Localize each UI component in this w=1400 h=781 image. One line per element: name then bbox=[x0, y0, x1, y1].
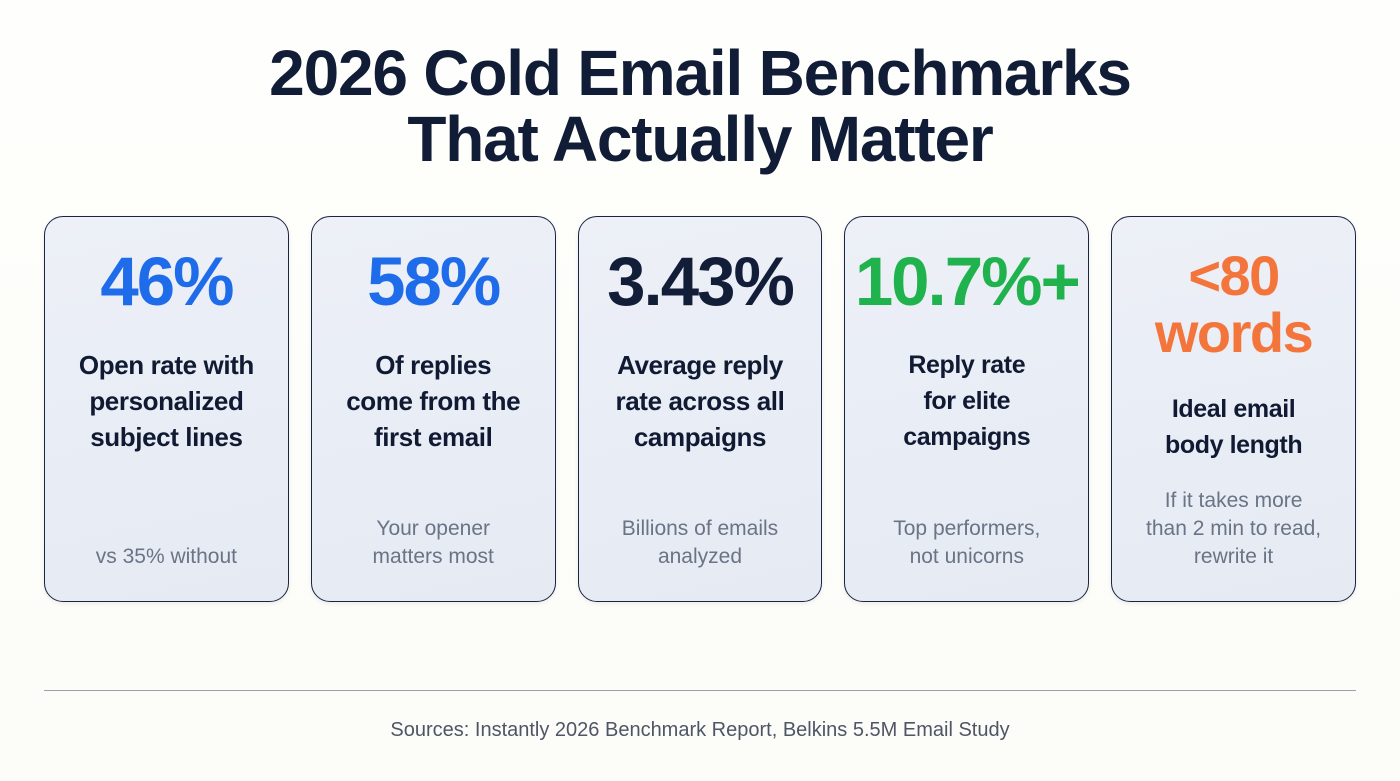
stat-value: 3.43% bbox=[607, 247, 793, 317]
stat-label-line-2: body length bbox=[1165, 427, 1302, 463]
stat-label-line-1: Ideal email bbox=[1165, 391, 1302, 427]
stat-note-line-1: vs 35% without bbox=[96, 543, 237, 571]
stat-cards-row: 46% Open rate with personalized subject … bbox=[0, 216, 1400, 602]
stat-label: Average reply rate across all campaigns bbox=[616, 347, 785, 455]
stat-note-line-2: analyzed bbox=[622, 543, 778, 571]
stat-label-line-1: Reply rate bbox=[903, 347, 1030, 383]
stat-label-line-3: subject lines bbox=[79, 419, 254, 455]
stat-card-elite-reply-rate[interactable]: 10.7%+ Reply rate for elite campaigns To… bbox=[844, 216, 1089, 602]
stat-note-line-1: Your opener bbox=[373, 515, 494, 543]
stat-label: Open rate with personalized subject line… bbox=[79, 347, 254, 455]
stat-note-line-2: not unicorns bbox=[893, 543, 1040, 571]
page-title: 2026 Cold Email Benchmarks That Actually… bbox=[0, 0, 1400, 172]
stat-card-email-body-length[interactable]: <80 words Ideal email body length If it … bbox=[1111, 216, 1356, 602]
title-line-2: That Actually Matter bbox=[0, 106, 1400, 172]
stat-value: 10.7%+ bbox=[855, 247, 1079, 317]
stat-value: 46% bbox=[100, 247, 232, 317]
stat-label-line-1: Open rate with bbox=[79, 347, 254, 383]
stat-label: Reply rate for elite campaigns bbox=[903, 347, 1030, 455]
stat-note-line-1: Billions of emails bbox=[622, 515, 778, 543]
stat-card-first-email-replies[interactable]: 58% Of replies come from the first email… bbox=[311, 216, 556, 602]
stat-note-line-2: than 2 min to read, bbox=[1146, 515, 1321, 543]
title-line-1: 2026 Cold Email Benchmarks bbox=[0, 40, 1400, 106]
stat-card-open-rate[interactable]: 46% Open rate with personalized subject … bbox=[44, 216, 289, 602]
stat-label: Of replies come from the first email bbox=[346, 347, 520, 455]
stat-card-average-reply-rate[interactable]: 3.43% Average reply rate across all camp… bbox=[578, 216, 823, 602]
stat-value-line-1: <80 bbox=[1155, 247, 1312, 304]
footer-sources-text: Sources: Instantly 2026 Benchmark Report… bbox=[44, 717, 1356, 743]
stat-label-line-3: first email bbox=[346, 419, 520, 455]
stat-label-line-1: Of replies bbox=[346, 347, 520, 383]
stat-value-line-2: words bbox=[1155, 304, 1312, 361]
stat-note-line-2: matters most bbox=[373, 543, 494, 571]
stat-note: Your opener matters most bbox=[373, 515, 494, 575]
stat-label-line-1: Average reply bbox=[616, 347, 785, 383]
footer: Sources: Instantly 2026 Benchmark Report… bbox=[0, 690, 1400, 781]
stat-note-line-1: Top performers, bbox=[893, 515, 1040, 543]
stat-note-line-3: rewrite it bbox=[1146, 543, 1321, 571]
footer-divider bbox=[44, 690, 1356, 691]
stat-note: If it takes more than 2 min to read, rew… bbox=[1146, 487, 1321, 575]
stat-note: Billions of emails analyzed bbox=[622, 515, 778, 575]
stat-label-line-2: rate across all bbox=[616, 383, 785, 419]
stat-label-line-2: for elite bbox=[903, 383, 1030, 419]
stat-label-line-2: personalized bbox=[79, 383, 254, 419]
stat-label-line-3: campaigns bbox=[616, 419, 785, 455]
infographic-canvas: 2026 Cold Email Benchmarks That Actually… bbox=[0, 0, 1400, 781]
stat-label-line-2: come from the bbox=[346, 383, 520, 419]
stat-label-line-3: campaigns bbox=[903, 419, 1030, 455]
stat-note: Top performers, not unicorns bbox=[893, 515, 1040, 575]
stat-value: 58% bbox=[367, 247, 499, 317]
stat-note: vs 35% without bbox=[96, 543, 237, 575]
stat-note-line-1: If it takes more bbox=[1146, 487, 1321, 515]
stat-label: Ideal email body length bbox=[1165, 391, 1302, 463]
stat-value: <80 words bbox=[1155, 247, 1312, 361]
